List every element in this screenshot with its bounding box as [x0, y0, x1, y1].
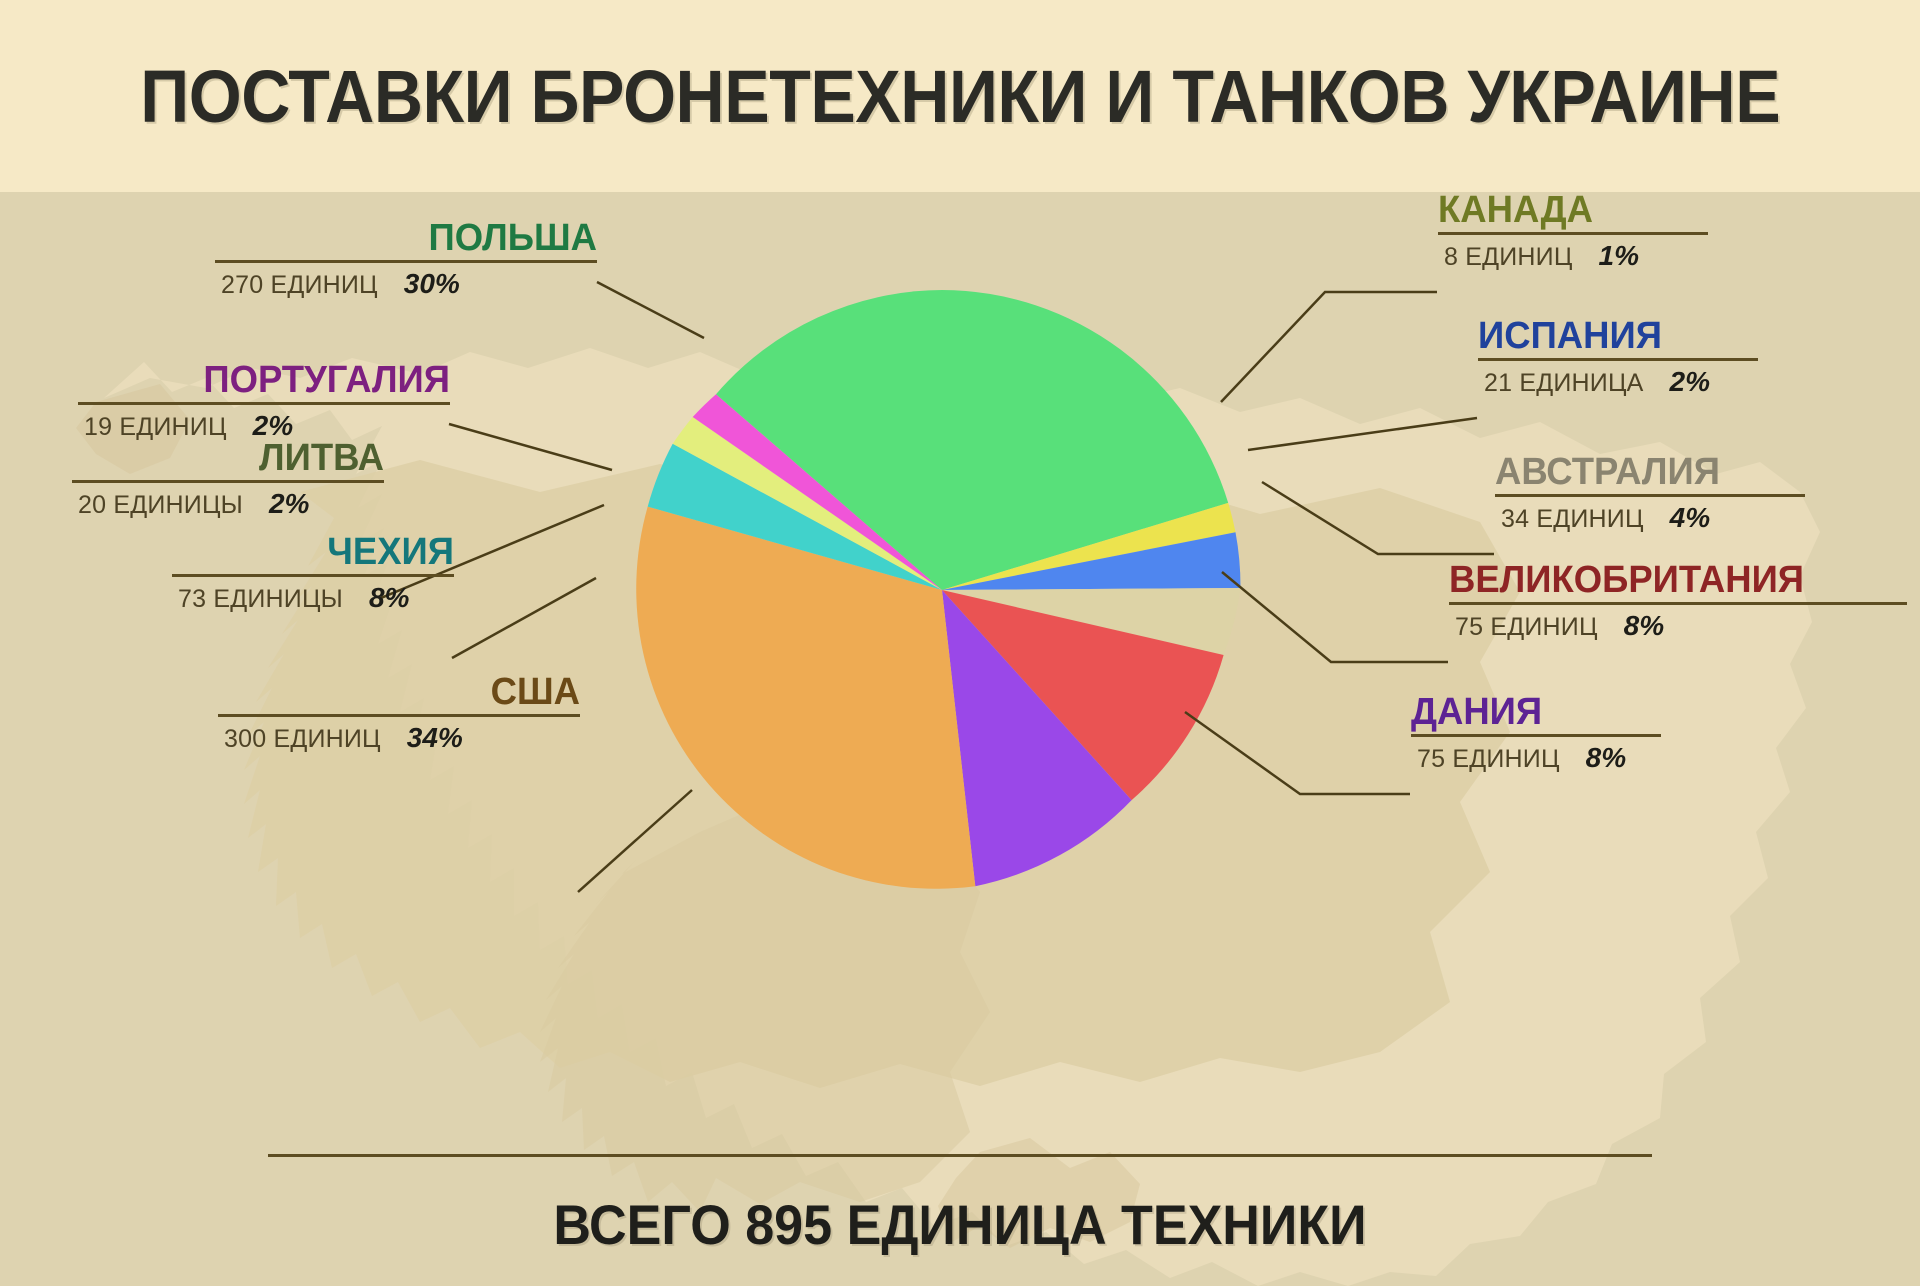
total-label: ВСЕГО 895 ЕДИНИЦА ТЕХНИКИ: [67, 1192, 1853, 1257]
label-australia-percent: 4%: [1670, 502, 1710, 534]
label-usa-country: США: [232, 672, 580, 712]
label-uk-rule: [1449, 602, 1907, 605]
label-usa-units: 300 ЕДИНИЦ: [224, 725, 381, 754]
label-uk-sub: 75 ЕДИНИЦ 8%: [1449, 610, 1907, 642]
label-denmark-units: 75 ЕДИНИЦ: [1417, 745, 1560, 774]
label-lithuania-percent: 2%: [269, 488, 309, 520]
label-denmark: ДАНИЯ 75 ЕДИНИЦ 8%: [1411, 692, 1661, 774]
label-canada-percent: 1%: [1599, 240, 1639, 272]
pie-chart: [592, 240, 1292, 940]
label-portugal-rule: [78, 402, 450, 405]
label-usa: США 300 ЕДИНИЦ 34%: [218, 672, 580, 754]
label-uk-country: ВЕЛИКОБРИТАНИЯ: [1449, 560, 1889, 600]
label-poland-rule: [215, 260, 597, 263]
footer-divider: [268, 1154, 1652, 1157]
label-canada-sub: 8 ЕДИНИЦ 1%: [1438, 240, 1708, 272]
label-lithuania-country: ЛИТВА: [84, 438, 384, 478]
label-poland-percent: 30%: [404, 268, 460, 300]
label-australia: АВСТРАЛИЯ 34 ЕДИНИЦ 4%: [1495, 452, 1805, 534]
label-lithuania-rule: [72, 480, 384, 483]
label-portugal-country: ПОРТУГАЛИЯ: [93, 360, 450, 400]
label-denmark-percent: 8%: [1586, 742, 1626, 774]
label-denmark-country: ДАНИЯ: [1411, 692, 1651, 732]
label-czechia: ЧЕХИЯ 73 ЕДИНИЦЫ 8%: [172, 532, 454, 614]
label-spain-country: ИСПАНИЯ: [1478, 316, 1747, 356]
label-poland-country: ПОЛЬША: [230, 218, 597, 258]
label-lithuania-units: 20 ЕДИНИЦЫ: [78, 491, 243, 520]
label-usa-percent: 34%: [407, 722, 463, 754]
label-canada: КАНАДА 8 ЕДИНИЦ 1%: [1438, 192, 1708, 272]
label-uk-percent: 8%: [1624, 610, 1664, 642]
label-portugal: ПОРТУГАЛИЯ 19 ЕДИНИЦ 2%: [78, 360, 450, 442]
label-spain-sub: 21 ЕДИНИЦА 2%: [1478, 366, 1758, 398]
chart-body: ПОЛЬША 270 ЕДИНИЦ 30% ПОРТУГАЛИЯ 19 ЕДИН…: [0, 192, 1920, 1286]
label-australia-units: 34 ЕДИНИЦ: [1501, 505, 1644, 534]
label-usa-rule: [218, 714, 580, 717]
label-czechia-country: ЧЕХИЯ: [183, 532, 454, 572]
label-uk: ВЕЛИКОБРИТАНИЯ 75 ЕДИНИЦ 8%: [1449, 560, 1907, 642]
label-czechia-sub: 73 ЕДИНИЦЫ 8%: [172, 582, 454, 614]
header-band: ПОСТАВКИ БРОНЕТЕХНИКИ И ТАНКОВ УКРАИНЕ: [0, 0, 1920, 192]
page-title: ПОСТАВКИ БРОНЕТЕХНИКИ И ТАНКОВ УКРАИНЕ: [140, 54, 1780, 139]
label-uk-units: 75 ЕДИНИЦ: [1455, 613, 1598, 642]
label-usa-sub: 300 ЕДИНИЦ 34%: [218, 722, 580, 754]
label-czechia-rule: [172, 574, 454, 577]
label-lithuania: ЛИТВА 20 ЕДИНИЦЫ 2%: [72, 438, 384, 520]
label-canada-rule: [1438, 232, 1708, 235]
label-spain-rule: [1478, 358, 1758, 361]
label-lithuania-sub: 20 ЕДИНИЦЫ 2%: [72, 488, 384, 520]
label-poland: ПОЛЬША 270 ЕДИНИЦ 30%: [215, 218, 597, 300]
label-czechia-percent: 8%: [369, 582, 409, 614]
pie-chart-svg: [592, 240, 1292, 940]
label-denmark-sub: 75 ЕДИНИЦ 8%: [1411, 742, 1661, 774]
infographic-root: ПОСТАВКИ БРОНЕТЕХНИКИ И ТАНКОВ УКРАИНЕ: [0, 0, 1920, 1286]
label-czechia-units: 73 ЕДИНИЦЫ: [178, 585, 343, 614]
label-australia-rule: [1495, 494, 1805, 497]
label-australia-country: АВСТРАЛИЯ: [1495, 452, 1793, 492]
label-poland-sub: 270 ЕДИНИЦ 30%: [215, 268, 597, 300]
label-canada-units: 8 ЕДИНИЦ: [1444, 243, 1573, 272]
label-denmark-rule: [1411, 734, 1661, 737]
label-poland-units: 270 ЕДИНИЦ: [221, 271, 378, 300]
label-spain-percent: 2%: [1670, 366, 1710, 398]
label-spain-units: 21 ЕДИНИЦА: [1484, 369, 1644, 398]
label-spain: ИСПАНИЯ 21 ЕДИНИЦА 2%: [1478, 316, 1758, 398]
label-australia-sub: 34 ЕДИНИЦ 4%: [1495, 502, 1805, 534]
label-canada-country: КАНАДА: [1438, 192, 1697, 230]
